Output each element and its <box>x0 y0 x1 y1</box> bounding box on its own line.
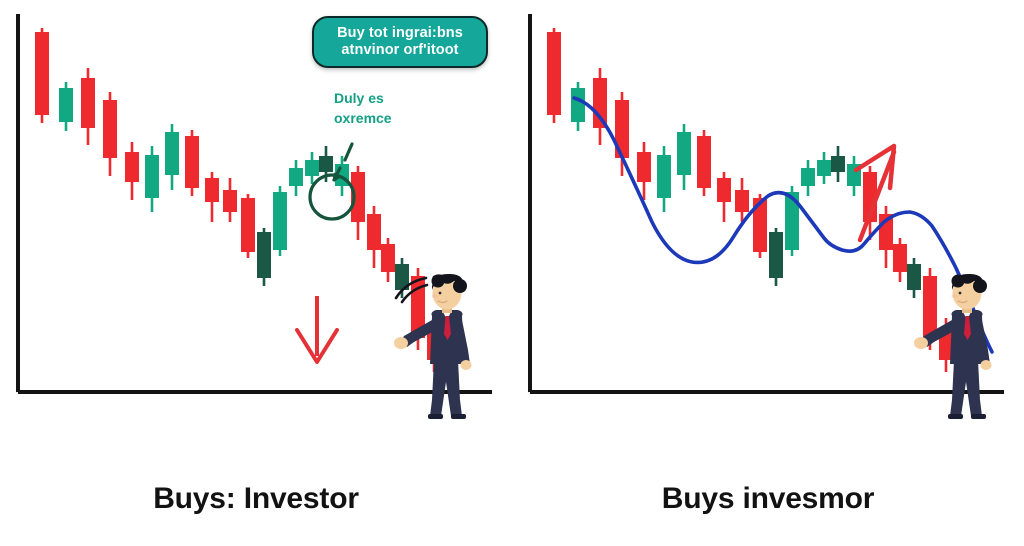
down-trend-arrow <box>297 296 337 362</box>
candle-body[interactable] <box>81 78 95 128</box>
candle-body[interactable] <box>547 32 561 115</box>
candle-body[interactable] <box>205 178 219 202</box>
caption-left: Buys: Investor <box>0 482 512 516</box>
candle-body[interactable] <box>677 132 691 175</box>
candle-body[interactable] <box>593 78 607 128</box>
candle-body[interactable] <box>289 168 303 186</box>
candle-body[interactable] <box>165 132 179 175</box>
candle-body[interactable] <box>717 178 731 202</box>
candle-body[interactable] <box>185 136 199 188</box>
candle-body[interactable] <box>35 32 49 115</box>
candle-body[interactable] <box>831 156 845 172</box>
candle-body[interactable] <box>319 156 333 172</box>
badge-line-1: Buy tot ingrai:bns <box>337 25 463 42</box>
entry-circle-marker <box>310 175 354 219</box>
candle-body[interactable] <box>103 100 117 158</box>
candle-body[interactable] <box>735 190 749 212</box>
candle-body[interactable] <box>907 264 921 290</box>
chart-svg-right <box>512 0 1024 455</box>
candle-body[interactable] <box>145 155 159 198</box>
infographic-root: Buy tot ingrai:bns atnvinor orf'itoot Du… <box>0 0 1024 546</box>
candle-body[interactable] <box>893 244 907 272</box>
candle-body[interactable] <box>305 160 319 176</box>
candlestick-chart-right[interactable] <box>512 0 1024 455</box>
candle-body[interactable] <box>769 232 783 278</box>
badge-line-2: atnvinor orf'itoot <box>341 42 458 59</box>
candle-body[interactable] <box>657 155 671 198</box>
candle-body[interactable] <box>223 190 237 212</box>
candle-body[interactable] <box>257 232 271 278</box>
candle-body[interactable] <box>273 192 287 250</box>
buy-indicator-badge[interactable]: Buy tot ingrai:bns atnvinor orf'itoot <box>312 16 488 68</box>
chart-svg-left <box>0 0 512 455</box>
candle-body[interactable] <box>637 152 651 182</box>
panel-right: Buetiat biyo. elmoldcenloleust Buys inve… <box>512 0 1024 546</box>
annot-line-2: oxremce <box>334 108 392 128</box>
candle-body[interactable] <box>241 198 255 252</box>
investor-character <box>394 274 472 419</box>
panel-left: Buy tot ingrai:bns atnvinor orf'itoot Du… <box>0 0 512 546</box>
candlestick-chart-left[interactable] <box>0 0 512 455</box>
candle-body[interactable] <box>59 88 73 122</box>
candle-body[interactable] <box>381 244 395 272</box>
daily-observe-note: Duly es oxremce <box>334 88 392 129</box>
annot-line-1: Duly es <box>334 88 392 108</box>
panel-divider <box>511 0 513 546</box>
candle-body[interactable] <box>817 160 831 176</box>
candle-body[interactable] <box>923 276 937 338</box>
candle-body[interactable] <box>125 152 139 182</box>
candle-series-left <box>35 28 457 382</box>
candle-body[interactable] <box>697 136 711 188</box>
candle-body[interactable] <box>367 214 381 250</box>
caption-right: Buys invesmor <box>512 482 1024 516</box>
candle-body[interactable] <box>571 88 585 122</box>
candle-body[interactable] <box>801 168 815 186</box>
